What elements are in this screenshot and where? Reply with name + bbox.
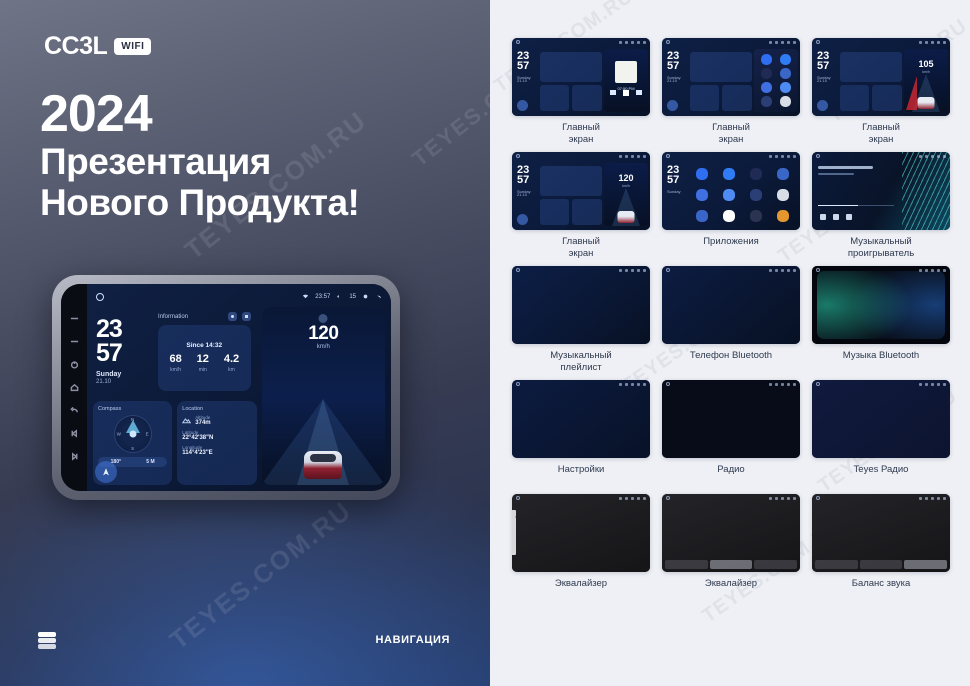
transport-controls[interactable]: [820, 214, 852, 220]
screen-caption: Телефон Bluetooth: [690, 350, 772, 376]
screen-caption: Эквалайзер: [555, 578, 607, 604]
layers-icon: [38, 632, 56, 648]
compass-widget: [690, 85, 719, 111]
screenshot-cell: Настройки: [512, 380, 650, 490]
status-icons: [919, 269, 946, 272]
screen-thumbnail-home-apps[interactable]: 2357 Sunday21.10: [662, 38, 800, 116]
app-icon[interactable]: [761, 96, 772, 107]
app-icon[interactable]: [761, 82, 772, 93]
screen-caption: Музыкальныйпроигрыватель: [848, 236, 914, 262]
screen-caption: Главныйэкран: [562, 122, 600, 148]
progress-bar: [818, 205, 894, 207]
balance-tabs[interactable]: [815, 560, 947, 569]
home-icon[interactable]: [516, 268, 520, 272]
screen-thumbnail-teyes-radio[interactable]: [812, 380, 950, 458]
stat-unit: min: [197, 367, 209, 373]
next-track-icon[interactable]: [69, 452, 79, 462]
adas-speed: 120: [262, 324, 385, 343]
screen-caption: Баланс звука: [852, 578, 911, 604]
screenshot-cell: Телефон Bluetooth: [662, 266, 800, 376]
media-widget: 07:50 PM: [604, 49, 648, 112]
app-icon[interactable]: [750, 168, 762, 180]
home-icon[interactable]: [816, 154, 820, 158]
latitude-value: 22°42'38"N: [182, 435, 251, 441]
screenshot-cell: Bluetooth 5.1 Rapid - Like Summer Coldes…: [812, 266, 950, 376]
status-bar: [812, 152, 950, 160]
app-icon[interactable]: [696, 210, 708, 222]
status-icons: [769, 269, 796, 272]
location-title: Location: [182, 406, 251, 412]
screen-caption: Эквалайзер: [705, 578, 757, 604]
compass-south: S: [131, 446, 134, 451]
stat-item: 12 min: [197, 354, 209, 373]
information-widget: [540, 52, 602, 82]
navigation-fab[interactable]: [517, 100, 528, 111]
screen-thumbnail-dialer[interactable]: [662, 266, 800, 344]
location-widget: [722, 85, 752, 111]
status-time: 23:57: [315, 294, 330, 300]
app-icon[interactable]: [723, 168, 735, 180]
clock-widget: 2357 Sunday21.10: [517, 166, 531, 197]
screen-caption: Главныйэкран: [562, 236, 600, 262]
visualizer: [902, 152, 950, 230]
location-widget: [872, 85, 902, 111]
volume-level: 15: [349, 294, 356, 300]
home-icon[interactable]: [816, 496, 820, 500]
home-icon[interactable]: [666, 268, 670, 272]
altitude-row: Altitude 374m: [182, 415, 251, 426]
clock-day: Sunday: [96, 371, 147, 378]
information-widget: [690, 52, 752, 82]
now-playing: [818, 166, 896, 175]
adas-speed-unit: km/h: [904, 70, 948, 74]
screen-caption: Приложения: [703, 236, 759, 262]
status-icons: [919, 41, 946, 44]
status-icons: [619, 155, 646, 158]
lead-car-graphic: [918, 97, 935, 109]
status-icons: [919, 497, 946, 500]
status-icons: [619, 383, 646, 386]
screen-thumbnail-eq2[interactable]: [662, 494, 800, 572]
screenshot-cell: 2357SundayПриложения: [662, 152, 800, 262]
compass-dial: N E S W: [114, 415, 152, 453]
home-icon[interactable]: [516, 154, 520, 158]
app-icon[interactable]: [780, 96, 791, 107]
watermark: TEYES.COM.RU: [407, 34, 490, 172]
screen-thumbnail-bt-music[interactable]: Bluetooth 5.1 Rapid - Like Summer Coldes…: [812, 266, 950, 344]
screenshot-cell: Moscow FM ❮ 102.40 ❯ Радио: [662, 380, 800, 490]
home-icon[interactable]: [816, 382, 820, 386]
status-bar: [812, 494, 950, 502]
compass-title: Compass: [98, 406, 167, 412]
volume-icon[interactable]: [336, 293, 343, 300]
status-bar: [512, 494, 650, 502]
screenshot-cell: Музыкальныйпроигрыватель: [812, 152, 950, 262]
screen-caption: Настройки: [558, 464, 605, 490]
clock-minutes: 57: [96, 342, 147, 366]
status-bar: [512, 266, 650, 274]
home-icon[interactable]: [666, 382, 670, 386]
status-icons: [919, 155, 946, 158]
power-icon[interactable]: [69, 360, 79, 370]
status-bar: [812, 266, 950, 274]
bezel-button-strip[interactable]: [61, 284, 87, 491]
app-icon[interactable]: [723, 210, 735, 222]
logo-text: CC3L: [44, 32, 107, 61]
home-icon[interactable]: [516, 40, 520, 44]
screenshot-cell: Эквалайзер: [662, 494, 800, 604]
latitude-row: Latitude 22°42'38"N: [182, 430, 251, 441]
app-icon[interactable]: [761, 54, 772, 65]
presentation-page: TEYES.COM.RU TEYES.COM.RU TEYES.COM.RU C…: [0, 0, 970, 686]
stat-unit: km: [224, 367, 239, 373]
headlight-icon: [319, 314, 328, 323]
app-icon[interactable]: [780, 54, 791, 65]
home-icon[interactable]: [516, 496, 520, 500]
screen-caption: Главныйэкран: [862, 122, 900, 148]
prev-icon: [820, 214, 826, 220]
stat-value: 12: [197, 354, 209, 365]
status-icons: [769, 497, 796, 500]
status-bar: [512, 152, 650, 160]
compass-hub: [129, 430, 136, 437]
home-icon[interactable]: [666, 154, 670, 158]
longitude-row: Longitude 114°4'23"E: [182, 445, 251, 456]
wifi-badge: WIFI: [114, 38, 151, 55]
hero-footer: НАВИГАЦИЯ: [0, 591, 490, 686]
app-icon[interactable]: [780, 68, 791, 79]
refresh-icon[interactable]: [228, 312, 237, 321]
altitude-value: 374m: [195, 420, 210, 426]
status-icons: [769, 383, 796, 386]
status-icons: [769, 155, 796, 158]
location-widget: [572, 85, 602, 111]
stat-unit: km/h: [169, 367, 181, 373]
compass-widget: [540, 199, 569, 225]
screen-caption: Музыкальныйплейлист: [550, 350, 611, 376]
app-icon[interactable]: [777, 210, 789, 222]
volume-up-icon[interactable]: [69, 314, 79, 324]
location-widget: [572, 199, 602, 225]
screenshot-cell: 2357 Sunday21.10 105km/h Главныйэкран: [812, 38, 950, 148]
status-icons: [619, 269, 646, 272]
status-bar: [662, 380, 800, 388]
adas-speed-unit: km/h: [604, 184, 648, 188]
headline-line-2: Нового Продукта!: [40, 182, 359, 223]
screen-thumbnail-home-adas[interactable]: 2357 Sunday21.10 120km/h: [512, 152, 650, 230]
screenshot-cell: Эквалайзер: [512, 494, 650, 604]
home-icon[interactable]: [816, 268, 820, 272]
adas-widget: 120km/h: [604, 163, 648, 226]
eq-tabs[interactable]: [665, 560, 797, 569]
altitude-label: Altitude: [195, 415, 210, 420]
clock-date: 21.10: [96, 379, 147, 385]
navigation-fab[interactable]: [517, 214, 528, 225]
status-icons: [769, 41, 796, 44]
screen-thumbnail-playlist[interactable]: [512, 266, 650, 344]
home-icon[interactable]: [816, 40, 820, 44]
status-bar: [662, 266, 800, 274]
eq-fader-knob[interactable]: [512, 539, 516, 546]
compass-west: W: [117, 431, 121, 436]
clock-widget: 23 57 Sunday 21.10: [93, 307, 147, 396]
hero-panel: TEYES.COM.RU TEYES.COM.RU TEYES.COM.RU C…: [0, 0, 490, 686]
pause-icon: [833, 214, 839, 220]
stat-item: 4.2 km: [224, 354, 239, 373]
next-icon: [846, 214, 852, 220]
screen-thumbnail-apps[interactable]: 2357Sunday: [662, 152, 800, 230]
app-icon[interactable]: [750, 189, 762, 201]
status-bar: [512, 380, 650, 388]
screen-caption: Главныйэкран: [712, 122, 750, 148]
back-icon[interactable]: [69, 406, 79, 416]
screenshot-grid: 2357 Sunday21.10 07:50 PM Главныйэкран 2…: [512, 38, 948, 604]
screen-thumbnail-settings[interactable]: [512, 380, 650, 458]
status-icons: [919, 383, 946, 386]
screens-grid-panel: TEYES.COM.RU TEYES.COM.RU TEYES.COM.RU T…: [490, 0, 970, 686]
adas-speed: 120: [604, 173, 648, 183]
screen-thumbnail-eq[interactable]: [512, 494, 650, 572]
navigation-fab[interactable]: [667, 100, 678, 111]
home-icon[interactable]: [666, 496, 670, 500]
home-icon[interactable]: [69, 383, 79, 393]
volume-down-icon[interactable]: [69, 337, 79, 347]
headline-year: 2024: [40, 88, 359, 141]
prev-track-icon[interactable]: [69, 429, 79, 439]
screenshot-cell: Баланс звука: [812, 494, 950, 604]
app-icon[interactable]: [780, 82, 791, 93]
eq-fader-knob[interactable]: [512, 520, 516, 527]
information-widget: [840, 52, 902, 82]
status-icons: [619, 497, 646, 500]
screen-thumbnail-music[interactable]: [812, 152, 950, 230]
status-bar: [812, 380, 950, 388]
clock-widget: 2357 Sunday21.10: [817, 52, 831, 83]
stat-item: 68 km/h: [169, 354, 181, 373]
information-title: Information: [158, 314, 188, 320]
status-bar: [662, 494, 800, 502]
stat-value: 4.2: [224, 354, 239, 365]
app-icon[interactable]: [777, 189, 789, 201]
app-icon[interactable]: [696, 189, 708, 201]
app-icon[interactable]: [761, 68, 772, 79]
product-logo: CC3L WIFI: [44, 32, 151, 61]
app-icon[interactable]: [750, 210, 762, 222]
screenshot-cell: 2357 Sunday21.10 120km/h Главныйэкран: [512, 152, 650, 262]
lane-warning: [906, 76, 917, 110]
mountain-icon: [182, 416, 191, 425]
adas-widget: 105km/h: [904, 49, 948, 112]
status-icons: [619, 41, 646, 44]
head-unit-screen[interactable]: 23:57 15: [87, 284, 391, 491]
adas-speed: 105: [904, 59, 948, 69]
screen-thumbnail-home-media[interactable]: 2357 Sunday21.10 07:50 PM: [512, 38, 650, 116]
headline-line-1: Презентация: [40, 141, 359, 182]
nav-label: НАВИГАЦИЯ: [376, 634, 450, 646]
wifi-icon: [302, 293, 309, 300]
clock-widget: 2357 Sunday21.10: [667, 52, 681, 83]
navigation-fab[interactable]: [817, 100, 828, 111]
stat-value: 68: [169, 354, 181, 365]
screen-caption: Радио: [717, 464, 744, 490]
screen-caption: Музыка Bluetooth: [843, 350, 919, 376]
status-bar: 23:57 15: [93, 290, 385, 303]
information-widget: [540, 166, 602, 196]
expand-icon[interactable]: [242, 312, 251, 321]
compass-speed: 5 M: [146, 459, 154, 465]
information-widget: Information Since 14:32: [152, 307, 257, 396]
screenshot-cell: 2357 Sunday21.10 Главныйэкран: [662, 38, 800, 148]
head-unit-device: 23:57 15: [52, 275, 400, 500]
home-icon[interactable]: [96, 293, 104, 301]
clock-widget: 2357 Sunday21.10: [517, 52, 531, 83]
location-widget[interactable]: Location Altitude 374m: [177, 401, 256, 485]
gear-icon[interactable]: [362, 293, 369, 300]
screen-caption: Teyes Радио: [854, 464, 909, 490]
app-shortcuts[interactable]: [754, 49, 798, 112]
app-icon[interactable]: [777, 168, 789, 180]
screenshot-cell: Teyes Радио: [812, 380, 950, 490]
compass-widget: [840, 85, 869, 111]
screen-thumbnail-radio[interactable]: Moscow FM ❮ 102.40 ❯: [662, 380, 800, 458]
app-grid[interactable]: [688, 163, 797, 227]
back-arrow-icon[interactable]: [375, 293, 382, 300]
screen-thumbnail-home-adas-red[interactable]: 2357 Sunday21.10 105km/h: [812, 38, 950, 116]
lead-car-graphic: [618, 211, 635, 223]
adas-speed-unit: km/h: [262, 344, 385, 350]
app-icon[interactable]: [696, 168, 708, 180]
headline: 2024 Презентация Нового Продукта!: [40, 88, 359, 224]
compass-widget: [540, 85, 569, 111]
trip-stats: 68 km/h 12 min: [162, 354, 247, 373]
longitude-value: 114°4'23"E: [182, 450, 251, 456]
navigation-fab[interactable]: [95, 461, 117, 483]
status-bar: [662, 38, 800, 46]
status-bar: [662, 152, 800, 160]
trip-since: Since 14:32: [186, 342, 222, 349]
lead-car-graphic: [304, 451, 342, 479]
eq-fader-knob[interactable]: [512, 510, 516, 517]
compass-east: E: [146, 431, 149, 436]
status-bar: [512, 38, 650, 46]
app-icon[interactable]: [723, 189, 735, 201]
status-bar: [812, 38, 950, 46]
adas-widget[interactable]: 120 km/h: [262, 307, 385, 485]
screenshot-cell: 2357 Sunday21.10 07:50 PM Главныйэкран: [512, 38, 650, 148]
screenshot-cell: Музыкальныйплейлист: [512, 266, 650, 376]
home-icon[interactable]: [666, 40, 670, 44]
screen-thumbnail-balance[interactable]: [812, 494, 950, 572]
home-icon[interactable]: [516, 382, 520, 386]
